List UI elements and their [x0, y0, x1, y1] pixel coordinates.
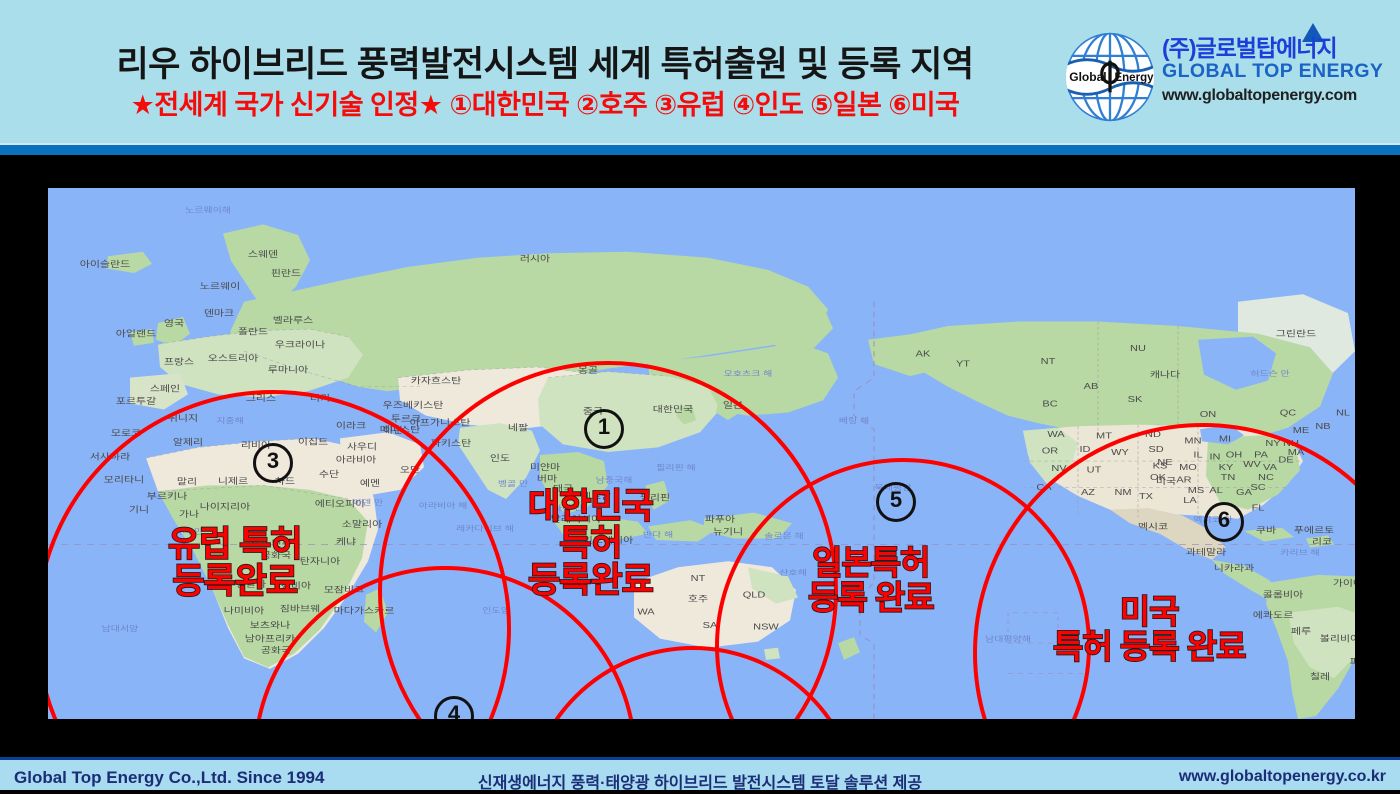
- map-place-label: 뉴기니: [713, 527, 743, 537]
- map-place-label: 마다가스카르: [334, 606, 395, 616]
- map-place-label: 버마: [537, 474, 557, 484]
- map-place-label: 나이지리아: [200, 502, 251, 512]
- map-place-label: 러시아: [520, 254, 550, 264]
- map-place-label: AK: [916, 350, 931, 359]
- map-place-label: TX: [1139, 492, 1154, 501]
- map-place-label: 핀란드: [271, 268, 301, 278]
- page-header: 리우 하이브리드 풍력발전시스템 세계 특허출원 및 등록 지역 ★전세계 국가…: [0, 0, 1400, 143]
- map-place-label: 베링 해: [839, 415, 869, 424]
- map-place-label: WV: [1243, 460, 1261, 469]
- map-place-label: 파키스탄: [431, 438, 471, 448]
- map-place-label: 소말리아: [342, 519, 382, 529]
- map-place-label: 부르키나: [147, 491, 187, 501]
- logo-website: www.globaltopenergy.com: [1162, 87, 1374, 105]
- map-place-label: 호주: [688, 594, 708, 604]
- map-place-label: 사우디: [347, 442, 377, 452]
- map-place-label: 네팔: [508, 423, 528, 433]
- map-place-label: ND: [1145, 430, 1161, 439]
- map-place-label: 노르웨이해: [185, 205, 231, 214]
- map-place-label: 우즈베키스탄: [383, 400, 444, 410]
- map-place-label: WA: [637, 607, 655, 616]
- map-place-label: 오만: [400, 465, 420, 475]
- map-place-label: 프랑스: [164, 357, 194, 367]
- map-place-label: SK: [1128, 395, 1143, 404]
- map-place-label: AB: [1084, 382, 1099, 391]
- region-marker-6: 6: [1204, 502, 1244, 542]
- map-stage: 노르웨이해아이슬란드스웨덴핀란드노르웨이덴마크영국아일랜드벨라루스폴란드우크라이…: [0, 155, 1400, 757]
- map-place-label: 짐바브웨: [280, 604, 320, 614]
- map-place-label: 스페인: [150, 384, 180, 394]
- map-place-label: UT: [1087, 466, 1102, 475]
- map-place-label: ME: [1293, 426, 1310, 435]
- map-place-label: 카리브 해: [1280, 548, 1320, 557]
- map-place-label: 오스트리아: [208, 353, 259, 363]
- map-place-label: BC: [1042, 400, 1057, 409]
- page-footer: Global Top Energy Co.,Ltd. Since 1994 신재…: [0, 757, 1400, 794]
- map-place-label: IN: [1210, 453, 1221, 462]
- map-place-label: 볼리비아: [1320, 634, 1355, 644]
- map-place-label: OR: [1042, 447, 1058, 456]
- map-place-label: 모리타니: [104, 475, 144, 485]
- map-place-label: QC: [1280, 409, 1296, 418]
- map-place-label: 스웨덴: [248, 249, 278, 259]
- map-place-label: QLD: [743, 591, 766, 600]
- map-place-label: SA: [703, 621, 718, 630]
- map-place-label: ID: [1080, 445, 1091, 454]
- map-place-label: PA: [1254, 450, 1268, 459]
- map-place-label: IL: [1193, 450, 1203, 459]
- map-place-label: 아라비아 해: [419, 501, 468, 510]
- map-place-label: 레카다이브 해: [456, 524, 514, 533]
- map-place-label: 노르웨이: [200, 281, 240, 291]
- map-place-label: 아일랜드: [116, 329, 156, 339]
- map-place-label: 케냐: [336, 537, 356, 547]
- region-marker-1: 1: [584, 409, 624, 449]
- region-marker-5: 5: [876, 482, 916, 522]
- map-place-label: 쿠바: [1256, 525, 1276, 535]
- map-place-label: 남중국해: [596, 475, 633, 484]
- map-place-label: OH: [1226, 450, 1242, 459]
- map-place-label: 카자흐스탄: [411, 376, 462, 386]
- map-place-label: ON: [1200, 410, 1216, 419]
- map-place-label: 튀니지: [168, 413, 198, 423]
- map-place-label: 남아프리카: [245, 634, 296, 644]
- map-place-label: 에콰도르: [1253, 610, 1293, 620]
- map-place-label: 인도양: [482, 606, 510, 615]
- map-place-label: 필리핀 해: [656, 462, 696, 471]
- map-place-label: 몽골: [578, 365, 598, 375]
- map-place-label: 알제리: [173, 437, 203, 447]
- map-place-label: 멕시코: [1138, 522, 1168, 532]
- map-place-label: MI: [1219, 435, 1231, 444]
- company-logo: Global Energy (주)글로벌탑에너지 GLOBAL TOP ENER…: [1062, 27, 1374, 127]
- map-place-label: DE: [1278, 456, 1294, 465]
- map-place-label: 솔로몬 해: [764, 532, 804, 541]
- map-place-label: 지중해: [216, 416, 244, 425]
- map-place-label: 우크라이나: [275, 340, 326, 350]
- map-place-label: WA: [1047, 430, 1065, 439]
- map-place-label: NT: [691, 574, 706, 583]
- map-place-label: 덴마크: [204, 309, 234, 319]
- map-place-label: 리코: [1312, 537, 1332, 547]
- map-place-label: 파라과이: [1350, 657, 1355, 667]
- map-place-label: 캐나다: [1150, 370, 1180, 380]
- map-place-label: 포르투갈: [116, 396, 156, 407]
- map-place-label: CA: [1036, 483, 1052, 492]
- region-label-미국: 미국 특허 등록 완료: [1053, 595, 1246, 665]
- map-place-label: 페루: [1291, 626, 1311, 636]
- map-place-label: 가나: [179, 510, 199, 520]
- map-place-label: 아프가니스탄: [410, 418, 471, 428]
- map-place-label: NT: [1041, 357, 1056, 366]
- map-place-label: NB: [1315, 422, 1330, 431]
- map-place-label: 모로코: [111, 429, 141, 438]
- map-place-label: 칠레: [1310, 672, 1330, 682]
- region-label-대한민국: 대한민국 특허 등록완료: [528, 488, 653, 599]
- map-place-label: 남대평양해: [985, 635, 1031, 644]
- map-place-label: NV: [1051, 464, 1067, 473]
- map-place-label: 미얀마: [530, 462, 560, 473]
- globe-label-right: Energy: [1114, 72, 1154, 84]
- map-place-label: 서사하라: [90, 451, 130, 462]
- logo-text-block: (주)글로벌탑에너지 GLOBAL TOP ENERGY www.globalt…: [1162, 27, 1374, 125]
- map-place-label: 일본: [723, 400, 743, 410]
- map-place-label: MO: [1179, 463, 1197, 472]
- map-place-label: 폴란드: [238, 327, 268, 337]
- map-place-label: NL: [1336, 409, 1351, 418]
- map-place-label: WY: [1111, 448, 1129, 457]
- map-place-label: LA: [1183, 496, 1197, 505]
- map-place-label: NH: [1283, 439, 1299, 448]
- map-place-label: 콜롬비아: [1263, 590, 1303, 600]
- logo-company-kr: (주)글로벌탑에너지: [1162, 29, 1374, 63]
- map-place-label: VA: [1263, 463, 1277, 472]
- map-place-label: 공화국: [261, 645, 291, 655]
- map-place-label: 푸에르토: [1294, 525, 1334, 535]
- map-place-label: SC: [1250, 483, 1265, 492]
- map-place-label: MT: [1096, 431, 1112, 440]
- map-place-label: 모잠비크: [324, 585, 364, 595]
- map-place-label: 이라크: [336, 421, 366, 431]
- globe-icon: Global Energy: [1062, 29, 1158, 125]
- map-place-label: 터키: [310, 393, 330, 403]
- map-place-label: FL: [1252, 504, 1265, 513]
- footer-website[interactable]: www.globaltopenergy.co.kr: [1179, 768, 1386, 786]
- map-place-label: 예멘: [360, 478, 380, 488]
- map-place-label: NC: [1258, 473, 1274, 482]
- map-place-label: 아이슬란드: [80, 259, 131, 269]
- map-place-label: NM: [1114, 488, 1131, 497]
- map-place-label: 이집트: [298, 437, 328, 447]
- map-place-label: SD: [1148, 445, 1163, 454]
- region-label-유럽: 유럽 특허 등록완료: [168, 526, 302, 600]
- map-place-label: 니제르: [218, 476, 248, 486]
- map-place-label: 그리스: [246, 393, 276, 403]
- map-place-label: NSW: [753, 623, 780, 632]
- map-place-label: 나미비아: [224, 606, 264, 616]
- map-place-label: 루마니아: [268, 365, 308, 375]
- page-subtitle: ★전세계 국가 신기술 인정★ ①대한민국 ②호주 ③유럽 ④인도 ⑤일본 ⑥미…: [50, 83, 1040, 122]
- map-place-label: 기니: [129, 505, 149, 515]
- map-place-label: 대한민국: [653, 404, 693, 414]
- map-place-label: AR: [1176, 475, 1191, 484]
- map-place-label: 오호츠크 해: [724, 369, 773, 378]
- map-place-label: 니카라과: [1214, 563, 1254, 573]
- map-place-label: NU: [1130, 344, 1146, 353]
- map-place-label: MS: [1188, 486, 1205, 495]
- map-place-label: 미국: [1156, 476, 1176, 486]
- world-map[interactable]: 노르웨이해아이슬란드스웨덴핀란드노르웨이덴마크영국아일랜드벨라루스폴란드우크라이…: [48, 188, 1355, 719]
- map-place-label: 말리: [177, 477, 197, 487]
- map-place-label: AL: [1209, 486, 1223, 495]
- map-place-label: 이란: [383, 425, 403, 435]
- map-place-label: 아덴 만: [353, 498, 383, 507]
- map-place-label: YT: [956, 359, 970, 368]
- map-place-label: 벨라루스: [273, 315, 313, 325]
- map-place-label: 벵골 만: [498, 479, 528, 488]
- logo-company-en: GLOBAL TOP ENERGY: [1162, 60, 1374, 83]
- map-place-label: 탄자니아: [300, 557, 340, 567]
- map-place-label: 아라비아: [336, 455, 376, 465]
- page-title: 리우 하이브리드 풍력발전시스템 세계 특허출원 및 등록 지역: [50, 36, 1040, 87]
- map-place-label: 그린란드: [1276, 329, 1316, 339]
- map-place-label: 가이아나: [1333, 579, 1355, 589]
- map-place-label: AZ: [1081, 488, 1095, 497]
- map-place-label: 허드슨 만: [1250, 369, 1290, 378]
- map-place-label: 수단: [319, 469, 339, 479]
- map-place-label: GA: [1236, 488, 1252, 497]
- map-place-label: 인도: [490, 453, 510, 463]
- map-place-label: 보츠와나: [250, 620, 290, 630]
- map-place-label: 파푸아: [705, 514, 735, 524]
- region-label-일본: 일본특허 등록 완료: [808, 546, 934, 616]
- region-marker-3: 3: [253, 443, 293, 483]
- map-place-label: 과테말라: [1186, 547, 1226, 557]
- map-place-label: 영국: [164, 318, 184, 328]
- map-place-label: 산호해: [779, 568, 807, 577]
- map-place-label: KS: [1153, 462, 1168, 471]
- map-place-label: 남대서양: [102, 624, 139, 633]
- map-place-label: MN: [1184, 437, 1201, 446]
- map-place-label: TN: [1221, 473, 1236, 482]
- map-place-label: KY: [1219, 463, 1234, 472]
- map-place-label: NY: [1265, 439, 1281, 448]
